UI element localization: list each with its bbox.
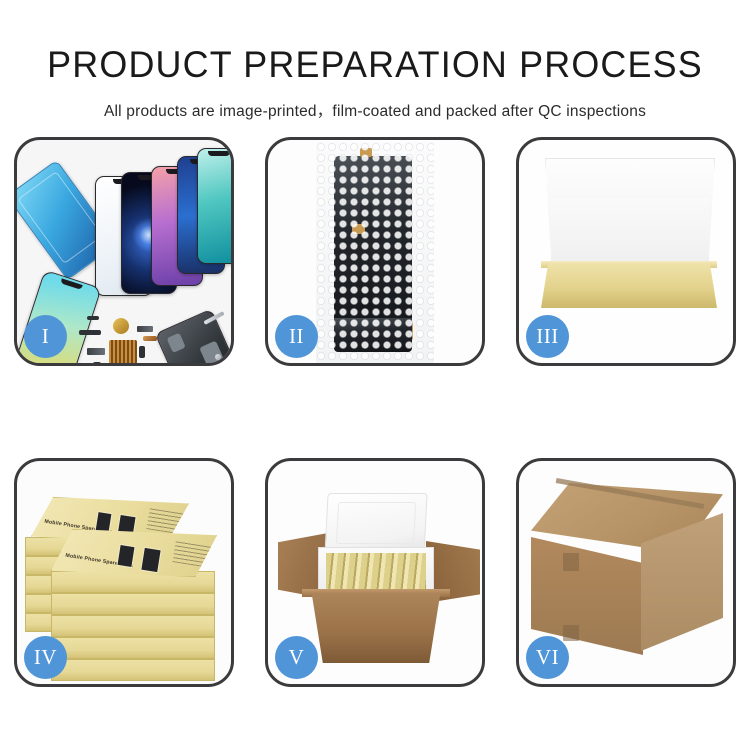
process-step-3[interactable]: III: [516, 137, 736, 366]
step-badge: V: [275, 636, 318, 679]
step-badge: I: [24, 315, 67, 358]
product-preparation-infographic: PRODUCT PREPARATION PROCESS All products…: [0, 0, 750, 750]
process-step-5[interactable]: V: [265, 458, 485, 687]
header: PRODUCT PREPARATION PROCESS All products…: [0, 0, 750, 121]
page-title: PRODUCT PREPARATION PROCESS: [11, 46, 739, 83]
process-step-4[interactable]: Mobile Phone Spare Parts: [14, 458, 234, 687]
process-grid: I II: [14, 137, 736, 687]
step-badge: VI: [526, 636, 569, 679]
step-badge: IV: [24, 636, 67, 679]
process-row-2: Mobile Phone Spare Parts: [14, 458, 736, 687]
step-badge: II: [275, 315, 318, 358]
process-step-6[interactable]: VI: [516, 458, 736, 687]
step-badge: III: [526, 315, 569, 358]
page-subtitle: All products are image-printed，film-coat…: [0, 99, 750, 121]
process-row-1: I II: [14, 137, 736, 366]
process-step-2[interactable]: II: [265, 137, 485, 366]
process-step-1[interactable]: I: [14, 137, 234, 366]
